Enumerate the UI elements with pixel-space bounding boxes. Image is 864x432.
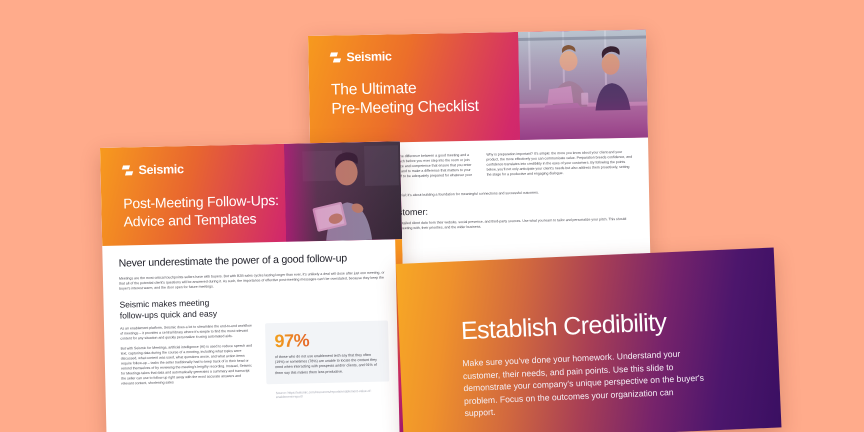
doc2-two-column-area: As an enablement platform, Seismic does … — [120, 321, 390, 404]
doc3-slide-body: Make sure you've done your homework. Und… — [462, 347, 706, 420]
doc2-main-heading: Never underestimate the power of a good … — [118, 252, 386, 270]
doc2-body-paragraph-2: But with Seismic for Meetings, artificia… — [121, 344, 255, 387]
doc2-body: Never underestimate the power of a good … — [102, 239, 405, 403]
doc1-column-right: Why is preparation important? It's simpl… — [486, 150, 633, 188]
doc2-intro-paragraph: Meetings are the most critical touchpoin… — [119, 271, 387, 292]
doc1-right-paragraph: Why is preparation important? It's simpl… — [486, 150, 632, 178]
doc3-content: Establish Credibility Make sure you've d… — [396, 248, 781, 423]
doc2-seismic-logo: Seismic — [122, 157, 400, 177]
doc1-hero-text: Seismic The Ultimate Pre-Meeting Checkli… — [308, 30, 648, 119]
stat-description: of those who do not use enablement tech … — [275, 353, 380, 376]
document-card-post-meeting-follow-ups[interactable]: Seismic Post-Meeting Follow-Ups: Advice … — [100, 141, 407, 432]
stat-source: Source: https://seismic.com/resources/re… — [267, 388, 390, 400]
doc1-title: The Ultimate Pre-Meeting Checklist — [331, 75, 648, 119]
doc2-sub-heading: Seismic makes meeting follow-ups quick a… — [119, 294, 387, 321]
seismic-logo-icon — [330, 52, 341, 63]
doc1-hero-banner: Seismic The Ultimate Pre-Meeting Checkli… — [308, 30, 648, 144]
canvas: Seismic The Ultimate Pre-Meeting Checkli… — [0, 0, 864, 432]
doc1-seismic-logo: Seismic — [330, 45, 646, 65]
doc2-title: Post-Meeting Follow-Ups: Advice and Temp… — [123, 189, 402, 230]
slide-card-establish-credibility[interactable]: Establish Credibility Make sure you've d… — [396, 248, 781, 432]
doc2-hero-text: Seismic Post-Meeting Follow-Ups: Advice … — [100, 141, 402, 231]
doc3-slide-title: Establish Credibility — [460, 303, 777, 345]
doc2-body-paragraph-1: As an enablement platform, Seismic does … — [120, 324, 253, 342]
doc2-text-column: As an enablement platform, Seismic does … — [120, 324, 255, 404]
doc2-stat-column: 97% of those who do not use enablement t… — [265, 321, 390, 400]
doc1-brand-name: Seismic — [346, 49, 391, 64]
stat-card: 97% of those who do not use enablement t… — [265, 321, 389, 385]
doc2-brand-name: Seismic — [138, 162, 183, 177]
stat-number: 97% — [274, 330, 379, 351]
seismic-logo-icon — [122, 165, 133, 176]
doc2-hero-banner: Seismic Post-Meeting Follow-Ups: Advice … — [100, 141, 402, 246]
